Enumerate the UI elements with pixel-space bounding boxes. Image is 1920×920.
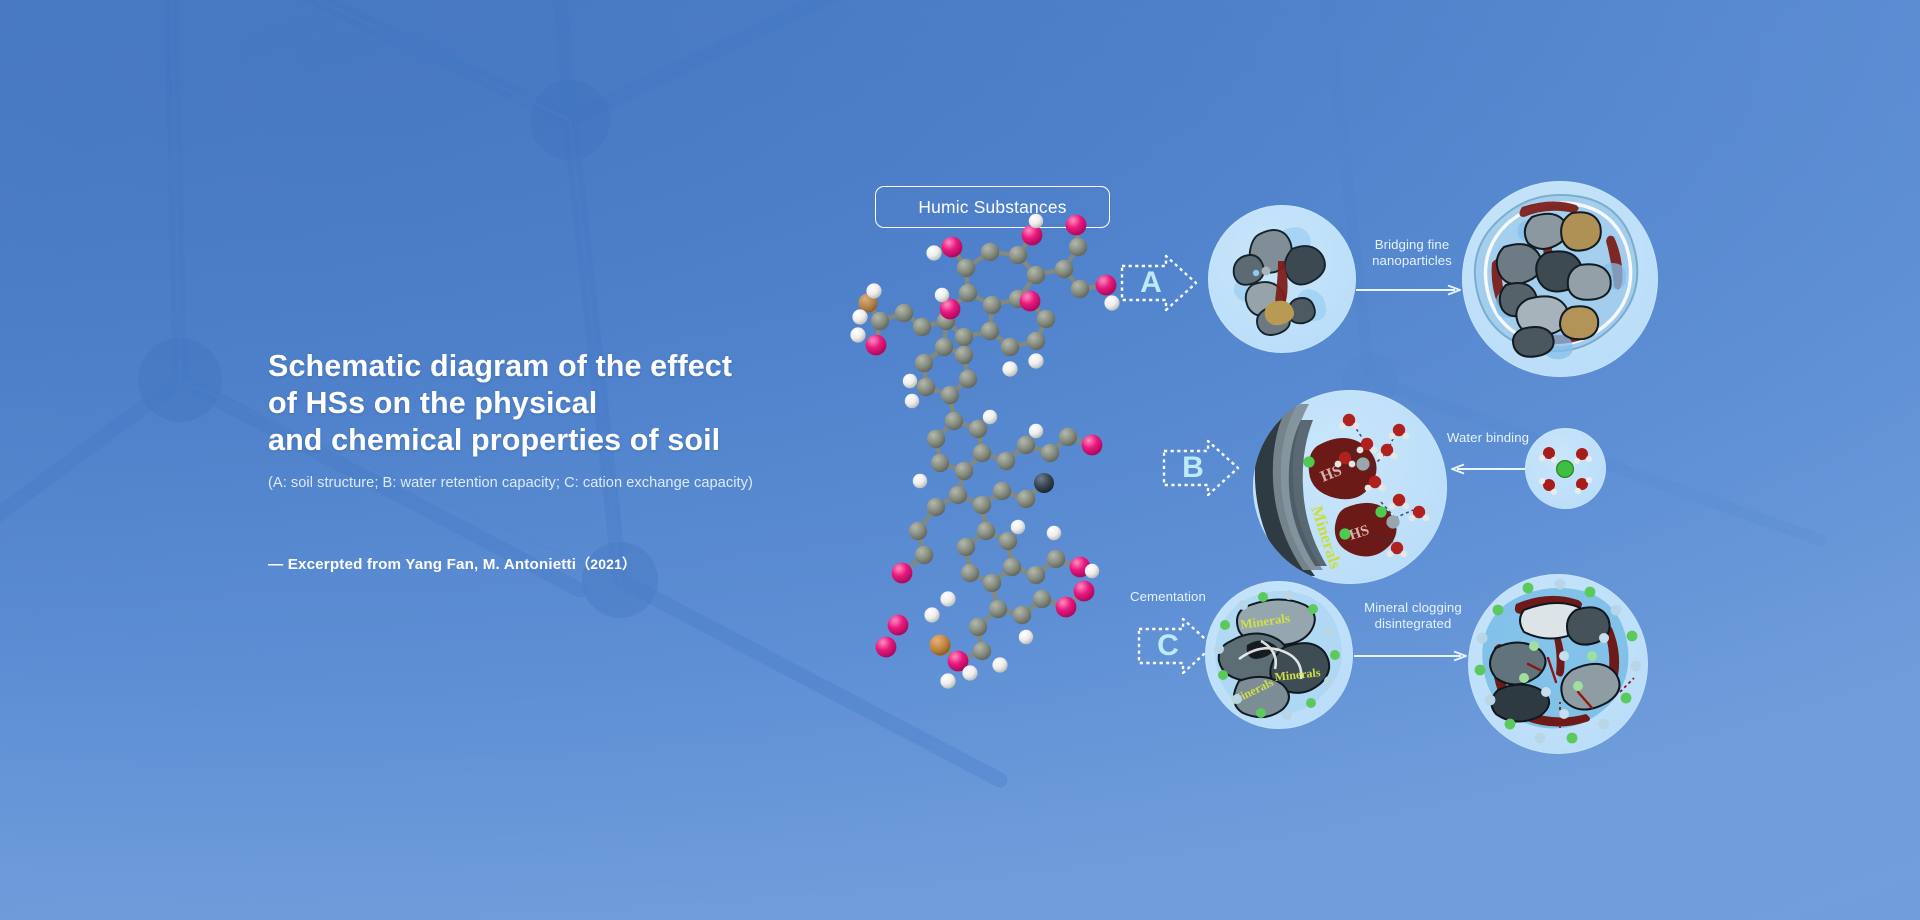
water-molecule [1575, 477, 1592, 494]
transition-label-c: Mineral clogging disintegrated [1350, 600, 1476, 632]
water-molecule [1539, 478, 1557, 495]
transition-arrow-c [1354, 651, 1470, 661]
cation-particle [1303, 456, 1314, 467]
page-title-line-2: of HSs on the physical [268, 385, 888, 422]
source-credit-text: — Excerpted from Yang Fan, M. Antonietti [268, 556, 576, 573]
cation-particle [1375, 506, 1386, 517]
water-molecule [1339, 414, 1360, 430]
central-cation [1557, 461, 1574, 478]
water-molecule [1574, 448, 1592, 464]
water-molecule [1389, 424, 1410, 440]
water-molecule [1377, 444, 1398, 460]
source-credit-year: （2021） [576, 556, 636, 572]
transition-label-a: Bridging fine nanoparticles [1352, 237, 1472, 269]
circle-a-aggregated-structure [1462, 181, 1658, 377]
transition-arrow-b [1450, 464, 1526, 474]
left-text-block: Schematic diagram of the effect of HSs o… [268, 348, 888, 574]
page-title-line-1: Schematic diagram of the effect [268, 348, 888, 385]
branch-arrow-b[interactable] [1160, 437, 1242, 499]
branch-arrow-a[interactable] [1118, 252, 1200, 314]
poster-canvas: Schematic diagram of the effect of HSs o… [0, 0, 1920, 920]
circle-a-loose-particles [1208, 205, 1356, 353]
circle-b-water-retention: Minerals HS HS [1253, 390, 1447, 584]
circle-c-disintegrated-clogging [1468, 574, 1648, 754]
page-title: Schematic diagram of the effect of HSs o… [268, 348, 888, 459]
page-subtitle: (A: soil structure; B: water retention c… [268, 473, 888, 493]
water-molecule [1409, 506, 1430, 522]
cation-particle [1339, 528, 1350, 539]
water-molecule [1539, 447, 1557, 463]
transition-label-b: Water binding [1438, 430, 1538, 446]
source-credit: — Excerpted from Yang Fan, M. Antonietti… [268, 554, 888, 574]
transition-arrow-a [1356, 285, 1464, 295]
circle-c-cemented-minerals: Minerals Minerals Minerals [1205, 581, 1353, 729]
circle-b-hydrated-cation [1525, 428, 1606, 509]
water-molecule [1389, 494, 1410, 510]
page-title-line-3: and chemical properties of soil [268, 422, 888, 459]
